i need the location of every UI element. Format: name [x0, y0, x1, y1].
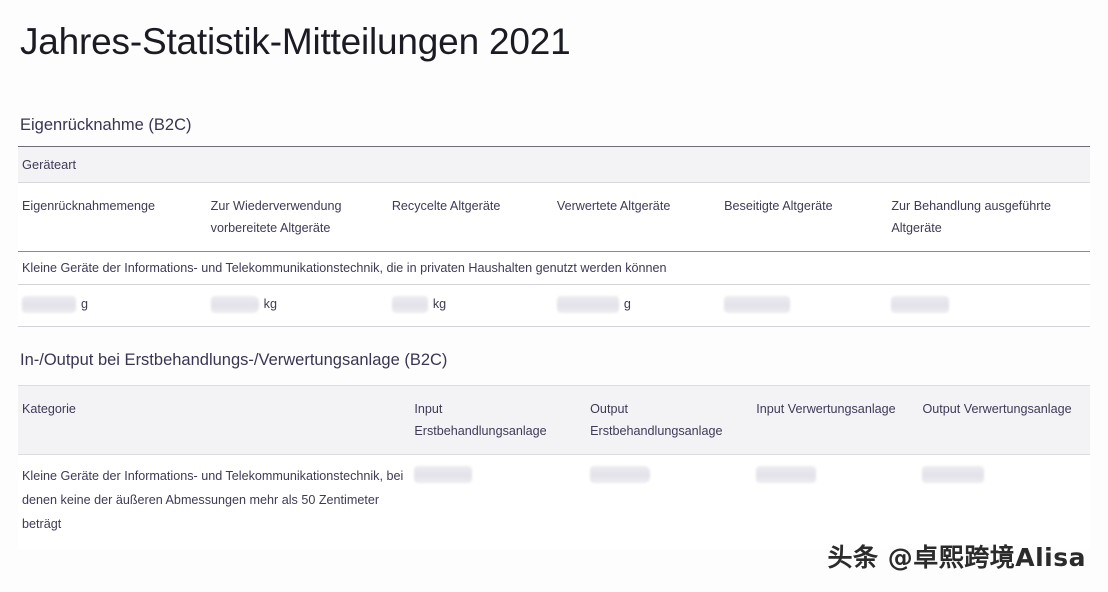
table-eigenruecknahme: Geräteart Eigenrücknahmemenge Zur Wieder… [18, 146, 1090, 327]
data-cell-output-erstbehandlungsanlage [586, 455, 752, 549]
redacted-value [756, 466, 816, 483]
column-header-verwertete-altgeraete: Verwertete Altgeräte [553, 183, 720, 252]
data-cell-input-verwertungsanlage [752, 455, 918, 549]
redacted-value [392, 296, 428, 313]
data-cell-beseitigte-altgeraete [720, 285, 887, 327]
redacted-value [414, 466, 472, 483]
category-label-kleine-geraete: Kleine Geräte der Informations- und Tele… [18, 252, 1090, 285]
redacted-value [891, 296, 949, 313]
column-header-output-verwertungsanlage: Output Verwertungsanlage [918, 386, 1090, 455]
unit-label: g [81, 298, 88, 311]
column-header-output-erstbehandlungsanlage: Output Erstbehandlungsanlage [586, 386, 752, 455]
data-cell-recycelte-altgeraete: kg [388, 285, 553, 327]
redacted-value [557, 296, 619, 313]
redacted-value [922, 466, 984, 483]
table-band-row: Geräteart [18, 147, 1090, 183]
data-cell-output-verwertungsanlage [918, 455, 1090, 549]
data-cell-eigenruecknahmemenge: g [18, 285, 207, 327]
table-row: g kg kg [18, 285, 1090, 327]
column-header-input-erstbehandlungsanlage: Input Erstbehandlungsanlage [410, 386, 586, 455]
redacted-value [590, 466, 650, 483]
unit-label: kg [264, 298, 277, 311]
band-label-geraeteart: Geräteart [18, 147, 1090, 183]
unit-label: kg [433, 298, 446, 311]
column-header-kategorie: Kategorie [18, 386, 410, 455]
section-heading-eigenruecknahme: Eigenrücknahme (B2C) [18, 116, 1090, 136]
table-row: Kleine Geräte der Informations- und Tele… [18, 455, 1090, 549]
column-header-zur-behandlung-ausgefuehrt: Zur Behandlung ausgeführte Altgeräte [887, 183, 1090, 252]
column-header-recycelte-altgeraete: Recycelte Altgeräte [388, 183, 553, 252]
table-header-row: Eigenrücknahmemenge Zur Wiederverwendung… [18, 183, 1090, 252]
data-cell-zur-behandlung-ausgefuehrt [887, 285, 1090, 327]
document-page: Jahres-Statistik-Mitteilungen 2021 Eigen… [0, 0, 1108, 592]
data-cell-wiederverwendung: kg [207, 285, 388, 327]
redacted-value [22, 296, 76, 313]
unit-label: g [624, 298, 631, 311]
data-cell-input-erstbehandlungsanlage [410, 455, 586, 549]
column-header-input-verwertungsanlage: Input Verwertungsanlage [752, 386, 918, 455]
column-header-eigenruecknahmemenge: Eigenrücknahmemenge [18, 183, 207, 252]
table-category-row: Kleine Geräte der Informations- und Tele… [18, 252, 1090, 285]
column-header-wiederverwendung: Zur Wiederverwendung vorbereitete Altger… [207, 183, 388, 252]
redacted-value [211, 296, 259, 313]
column-header-beseitigte-altgeraete: Beseitigte Altgeräte [720, 183, 887, 252]
table-header-row: Kategorie Input Erstbehandlungsanlage Ou… [18, 386, 1090, 455]
table-in-output: Kategorie Input Erstbehandlungsanlage Ou… [18, 385, 1090, 549]
redacted-value [724, 296, 790, 313]
data-cell-verwertete-altgeraete: g [553, 285, 720, 327]
section-heading-in-output: In-/Output bei Erstbehandlungs-/Verwertu… [18, 351, 1090, 371]
watermark: 头条 @卓熙跨境Alisa [828, 538, 1086, 574]
category-label-kleine-geraete-50cm: Kleine Geräte der Informations- und Tele… [18, 455, 410, 549]
page-title: Jahres-Statistik-Mitteilungen 2021 [18, 0, 1090, 64]
